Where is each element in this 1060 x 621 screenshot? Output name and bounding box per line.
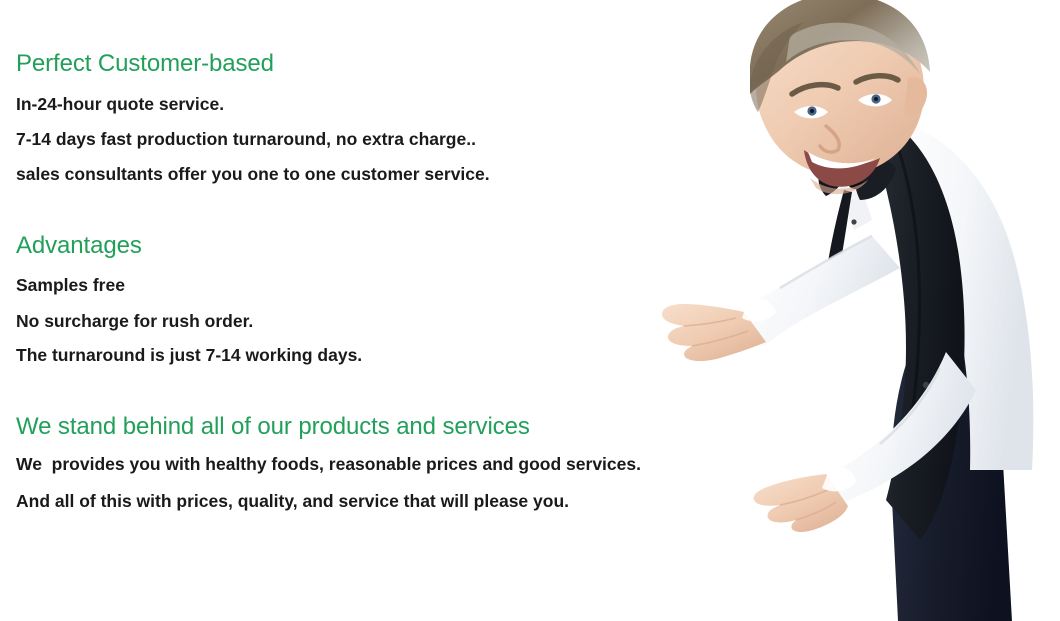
eyebrow-left bbox=[792, 85, 838, 94]
mouth bbox=[804, 150, 880, 187]
ear bbox=[904, 77, 927, 116]
section-heading-perfect-customer-based: Perfect Customer-based bbox=[16, 52, 274, 76]
vest-button bbox=[923, 382, 929, 388]
eyebrow-right bbox=[856, 76, 898, 82]
shirt-collar bbox=[828, 111, 896, 216]
section-3-line-2: And all of this with prices, quality, an… bbox=[16, 493, 569, 511]
eye-right-white bbox=[858, 94, 892, 106]
face bbox=[756, 1, 924, 176]
bowtie-left-wing bbox=[819, 158, 854, 196]
sleeve-lower-fold bbox=[880, 368, 940, 444]
trousers bbox=[891, 300, 1012, 621]
eye-right-iris bbox=[871, 94, 880, 103]
shirt-back bbox=[890, 120, 1033, 470]
eye-left-pupil bbox=[810, 109, 814, 113]
section-1-line-3: sales consultants offer you one to one c… bbox=[16, 166, 490, 184]
section-2-line-3: The turnaround is just 7-14 working days… bbox=[16, 347, 362, 365]
eye-left-iris bbox=[807, 106, 816, 115]
eye-right-pupil bbox=[874, 97, 878, 101]
hand-lower-finger-line-1 bbox=[780, 490, 828, 505]
shirt-placket bbox=[834, 150, 872, 230]
copy-column: Perfect Customer-based In-24-hour quote … bbox=[16, 0, 746, 621]
sleeve-lower bbox=[824, 352, 976, 506]
sleeve-upper-fold bbox=[780, 236, 872, 288]
cuff-lower bbox=[822, 467, 856, 492]
hair-sideburn bbox=[750, 22, 804, 112]
sleeve-upper bbox=[740, 236, 900, 346]
shirt-stud bbox=[851, 219, 856, 224]
section-heading-we-stand-behind: We stand behind all of our products and … bbox=[16, 415, 530, 439]
vest bbox=[870, 118, 965, 540]
vest-edge bbox=[886, 118, 920, 448]
bowtie-knot bbox=[847, 171, 863, 189]
eye-left-white bbox=[794, 106, 828, 118]
nose bbox=[820, 126, 839, 152]
bowtie-tail bbox=[828, 190, 852, 266]
section-3-line-1: We provides you with healthy foods, reas… bbox=[16, 456, 641, 474]
section-2-line-1: Samples free bbox=[16, 277, 125, 295]
teeth bbox=[808, 152, 876, 168]
chin-shadow bbox=[810, 178, 868, 194]
section-2-line-2: No surcharge for rush order. bbox=[16, 313, 253, 331]
neck bbox=[843, 94, 902, 134]
section-1-line-2: 7-14 days fast production turnaround, no… bbox=[16, 131, 476, 149]
hair-gray-highlight bbox=[786, 23, 920, 74]
hand-lower-finger-line-2 bbox=[796, 502, 836, 520]
hair bbox=[750, 0, 930, 94]
open-hand-lower bbox=[754, 474, 848, 532]
section-1-line-1: In-24-hour quote service. bbox=[16, 96, 224, 114]
bowtie-right-wing bbox=[854, 156, 896, 200]
cuff-upper bbox=[742, 299, 776, 322]
section-heading-advantages: Advantages bbox=[16, 234, 142, 258]
promo-banner: Perfect Customer-based In-24-hour quote … bbox=[0, 0, 1060, 621]
